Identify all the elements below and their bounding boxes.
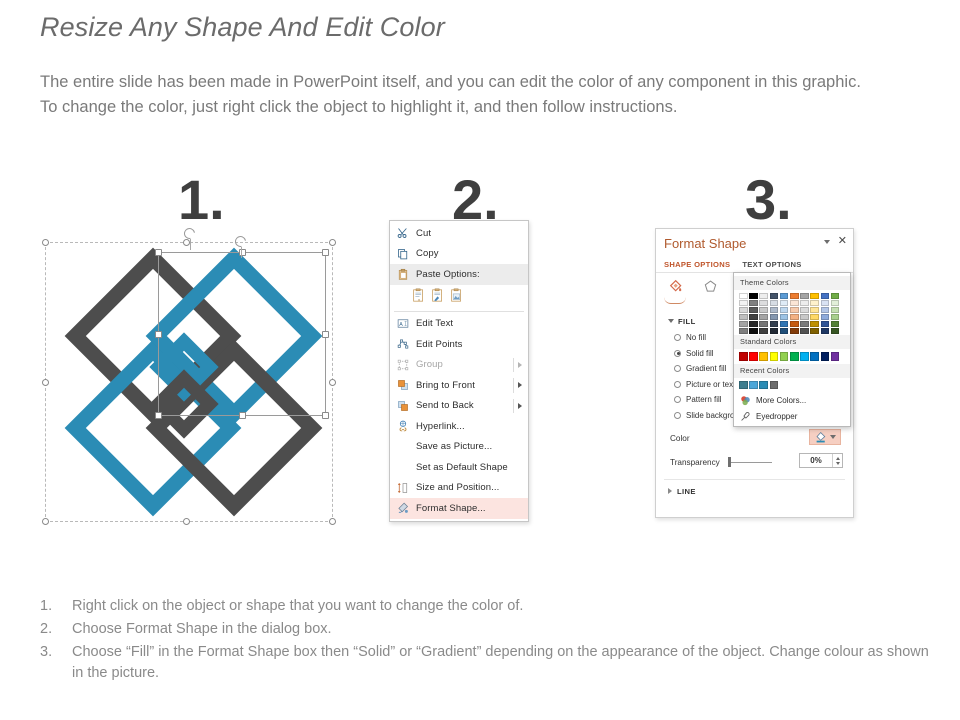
inner-handle-nw[interactable] <box>155 249 162 256</box>
theme-color-swatch[interactable] <box>739 314 748 320</box>
theme-color-swatch[interactable] <box>759 307 768 313</box>
inner-handle-sw[interactable] <box>155 412 162 419</box>
rotate-stem-left <box>190 239 191 250</box>
scissors-icon <box>394 226 412 241</box>
standard-colors-row[interactable] <box>734 349 850 364</box>
theme-color-swatch[interactable] <box>821 307 830 313</box>
standard-color-swatch[interactable] <box>821 352 830 361</box>
theme-color-swatch[interactable] <box>770 300 779 306</box>
fill-section-header[interactable]: FILL <box>668 317 696 326</box>
theme-color-swatch[interactable] <box>749 321 758 327</box>
theme-color-swatch[interactable] <box>790 300 799 306</box>
theme-color-swatch[interactable] <box>800 328 809 334</box>
theme-color-swatch[interactable] <box>831 321 840 327</box>
theme-color-swatch[interactable] <box>759 328 768 334</box>
menu-item-format-shape[interactable]: Format Shape... <box>390 498 528 519</box>
theme-color-swatch[interactable] <box>739 321 748 327</box>
svg-text:A: A <box>399 322 403 328</box>
color-label: Color <box>670 434 690 443</box>
radio-icon[interactable] <box>674 365 681 372</box>
inner-handle-e[interactable] <box>322 331 329 338</box>
paste-use-theme-icon[interactable] <box>431 288 444 306</box>
theme-color-swatch[interactable] <box>810 321 819 327</box>
radio-icon[interactable] <box>674 381 681 388</box>
theme-color-swatch[interactable] <box>790 293 799 299</box>
standard-color-swatch[interactable] <box>749 352 758 361</box>
theme-color-column[interactable] <box>831 293 840 334</box>
menu-item-label: Group <box>412 359 518 370</box>
theme-color-swatch[interactable] <box>790 314 799 320</box>
selection-handle-e[interactable] <box>329 379 336 386</box>
section-divider <box>664 479 845 480</box>
theme-color-column[interactable] <box>800 293 809 334</box>
step-number-1: 1. <box>178 172 225 228</box>
theme-color-column[interactable] <box>770 293 779 334</box>
fill-option-label: Gradient fill <box>686 364 726 373</box>
menu-item-hyperlink[interactable]: Hyperlink... <box>390 416 528 437</box>
slider-track <box>730 462 772 463</box>
transparency-spinner[interactable]: 0% <box>799 453 843 468</box>
fill-option-label: No fill <box>686 333 706 342</box>
edit-points-icon <box>394 337 412 352</box>
eyedropper-item[interactable]: Eyedropper <box>734 408 850 424</box>
selection-outline-inner[interactable] <box>158 252 326 416</box>
menu-item-send-to-back[interactable]: Send to Back <box>390 396 528 417</box>
pane-header-buttons[interactable]: ✕ <box>824 237 847 246</box>
paste-keep-source-icon[interactable]: a <box>412 288 425 306</box>
standard-color-swatch[interactable] <box>810 352 819 361</box>
theme-color-swatch[interactable] <box>800 307 809 313</box>
selection-handle-n[interactable] <box>183 239 190 246</box>
selection-handle-se[interactable] <box>329 518 336 525</box>
recent-colors-row[interactable] <box>734 378 850 393</box>
group-icon <box>394 357 412 372</box>
menu-item-label: Set as Default Shape <box>412 462 522 473</box>
shape-illustration-panel <box>45 238 337 526</box>
format-shape-title: Format Shape <box>664 236 746 251</box>
inner-handle-w[interactable] <box>155 331 162 338</box>
theme-color-swatch[interactable] <box>790 321 799 327</box>
recent-color-swatch[interactable] <box>759 381 768 390</box>
selection-handle-sw[interactable] <box>42 518 49 525</box>
menu-item-edit-text[interactable]: A Edit Text <box>390 314 528 335</box>
menu-item-size-and-position[interactable]: Size and Position... <box>390 478 528 499</box>
spinner-down-icon[interactable] <box>836 462 840 465</box>
clipboard-icon <box>394 267 412 282</box>
menu-item-set-default-shape[interactable]: Set as Default Shape <box>390 457 528 478</box>
instruction-number: 2. <box>40 619 72 640</box>
menu-item-label: Cut <box>412 228 522 239</box>
theme-color-swatch[interactable] <box>739 300 748 306</box>
selection-handle-s[interactable] <box>183 518 190 525</box>
theme-color-swatch[interactable] <box>780 293 789 299</box>
instruction-item: 3. Choose “Fill” in the Format Shape box… <box>40 642 930 684</box>
theme-color-column[interactable] <box>790 293 799 334</box>
spinner-arrows[interactable] <box>832 454 842 467</box>
submenu-divider <box>513 399 514 414</box>
page-subtitle: The entire slide has been made in PowerP… <box>40 70 870 120</box>
triangle-down-icon <box>668 319 674 323</box>
chevron-right-icon <box>518 403 522 409</box>
radio-icon-selected[interactable] <box>674 350 681 357</box>
size-position-icon <box>394 480 412 495</box>
theme-color-swatch[interactable] <box>780 300 789 306</box>
format-shape-icon <box>394 501 412 516</box>
theme-color-swatch[interactable] <box>739 293 748 299</box>
step-number-3: 3. <box>745 172 792 228</box>
theme-color-swatch[interactable] <box>831 307 840 313</box>
theme-color-swatch[interactable] <box>749 300 758 306</box>
theme-color-swatch[interactable] <box>770 321 779 327</box>
menu-item-label: Save as Picture... <box>412 441 522 452</box>
eyedropper-label: Eyedropper <box>756 412 797 421</box>
no-icon <box>394 439 412 454</box>
submenu-divider <box>513 378 514 393</box>
menu-item-label: Hyperlink... <box>412 421 522 432</box>
instruction-text: Choose Format Shape in the dialog box. <box>72 619 930 640</box>
no-icon <box>394 460 412 475</box>
theme-color-swatch[interactable] <box>821 300 830 306</box>
standard-color-swatch[interactable] <box>800 352 809 361</box>
edit-text-icon: A <box>394 316 412 331</box>
copy-icon <box>394 246 412 261</box>
recent-color-swatch[interactable] <box>770 381 779 390</box>
theme-color-swatch[interactable] <box>821 314 830 320</box>
theme-color-column[interactable] <box>821 293 830 334</box>
hyperlink-icon <box>394 419 412 434</box>
chevron-down-icon[interactable] <box>830 435 836 439</box>
theme-color-swatch[interactable] <box>780 328 789 334</box>
theme-color-swatch[interactable] <box>831 314 840 320</box>
theme-color-swatch[interactable] <box>810 307 819 313</box>
theme-color-swatch[interactable] <box>739 307 748 313</box>
menu-item-label: Edit Points <box>412 339 522 350</box>
standard-color-swatch[interactable] <box>759 352 768 361</box>
theme-color-swatch[interactable] <box>800 321 809 327</box>
fill-option-label: Pattern fill <box>686 395 722 404</box>
effects-pentagon-icon[interactable] <box>700 277 720 295</box>
theme-color-swatch[interactable] <box>739 328 748 334</box>
theme-color-swatch[interactable] <box>821 321 830 327</box>
menu-item-bring-to-front[interactable]: Bring to Front <box>390 375 528 396</box>
selection-handle-ne[interactable] <box>329 239 336 246</box>
instruction-item: 2. Choose Format Shape in the dialog box… <box>40 619 930 640</box>
theme-color-column[interactable] <box>759 293 768 334</box>
context-menu[interactable]: Cut Copy Paste Options: a <box>389 220 529 522</box>
theme-color-swatch[interactable] <box>749 293 758 299</box>
transparency-value: 0% <box>800 456 832 465</box>
line-section-label: LINE <box>677 487 696 496</box>
more-colors-icon <box>740 395 751 406</box>
spinner-up-icon[interactable] <box>836 457 840 460</box>
theme-color-swatch[interactable] <box>749 307 758 313</box>
standard-color-swatch[interactable] <box>790 352 799 361</box>
bring-front-icon <box>394 378 412 393</box>
theme-color-swatch[interactable] <box>831 328 840 334</box>
theme-color-swatch[interactable] <box>800 293 809 299</box>
fill-option-label: Solid fill <box>686 349 714 358</box>
page-title: Resize Any Shape And Edit Color <box>40 12 445 43</box>
tab-text-options[interactable]: TEXT OPTIONS <box>742 260 801 269</box>
selection-handle-nw[interactable] <box>42 239 49 246</box>
instruction-text: Choose “Fill” in the Format Shape box th… <box>72 642 930 684</box>
transparency-slider[interactable] <box>726 457 772 467</box>
theme-color-swatch[interactable] <box>770 293 779 299</box>
line-section-header[interactable]: LINE <box>668 487 696 496</box>
submenu-divider <box>513 358 514 373</box>
fill-color-button[interactable] <box>809 429 841 445</box>
radio-icon[interactable] <box>674 334 681 341</box>
theme-color-swatch[interactable] <box>831 300 840 306</box>
transparency-label: Transparency <box>670 458 720 467</box>
instruction-text: Right click on the object or shape that … <box>72 596 930 617</box>
radio-icon[interactable] <box>674 396 681 403</box>
fill-bucket-icon[interactable] <box>666 277 686 295</box>
theme-color-column[interactable] <box>749 293 758 334</box>
paste-picture-icon[interactable] <box>450 288 463 306</box>
theme-color-swatch[interactable] <box>810 314 819 320</box>
recent-color-swatch[interactable] <box>749 381 758 390</box>
more-colors-item[interactable]: More Colors... <box>734 392 850 408</box>
menu-item-save-as-picture[interactable]: Save as Picture... <box>390 437 528 458</box>
theme-color-swatch[interactable] <box>780 321 789 327</box>
theme-color-swatch[interactable] <box>800 300 809 306</box>
close-icon[interactable]: ✕ <box>838 237 847 246</box>
theme-color-column[interactable] <box>780 293 789 334</box>
format-pane-tabs[interactable]: SHAPE OPTIONS TEXT OPTIONS <box>664 260 802 269</box>
paste-options-icon-row[interactable]: a <box>390 285 528 309</box>
menu-item-label: Format Shape... <box>412 503 522 514</box>
menu-item-edit-points[interactable]: Edit Points <box>390 334 528 355</box>
chevron-down-icon[interactable] <box>824 240 830 244</box>
active-icon-underline <box>664 297 686 304</box>
recent-color-swatch[interactable] <box>739 381 748 390</box>
triangle-right-icon <box>668 488 672 494</box>
selection-handle-w[interactable] <box>42 379 49 386</box>
more-colors-label: More Colors... <box>756 396 806 405</box>
instruction-list: 1. Right click on the object or shape th… <box>40 596 930 686</box>
instruction-item: 1. Right click on the object or shape th… <box>40 596 930 617</box>
standard-color-swatch[interactable] <box>780 352 789 361</box>
instruction-number: 3. <box>40 642 72 684</box>
theme-color-swatch[interactable] <box>770 314 779 320</box>
slide-canvas: Resize Any Shape And Edit Color The enti… <box>0 0 960 720</box>
menu-item-label: Copy <box>412 248 522 259</box>
theme-color-swatch[interactable] <box>780 307 789 313</box>
menu-item-label: Send to Back <box>412 400 518 411</box>
theme-color-swatch[interactable] <box>759 293 768 299</box>
theme-color-swatch[interactable] <box>770 328 779 334</box>
theme-color-swatch[interactable] <box>759 321 768 327</box>
theme-color-swatch[interactable] <box>821 328 830 334</box>
fill-section-label: FILL <box>678 317 696 326</box>
menu-item-paste-options[interactable]: Paste Options: <box>390 264 528 285</box>
fill-color-icon <box>815 431 828 443</box>
standard-color-swatch[interactable] <box>739 352 748 361</box>
menu-item-copy[interactable]: Copy <box>390 244 528 265</box>
theme-color-swatch[interactable] <box>810 293 819 299</box>
theme-color-column[interactable] <box>739 293 748 334</box>
theme-color-swatch[interactable] <box>749 328 758 334</box>
recent-colors-header: Recent Colors <box>734 364 850 378</box>
theme-color-swatch[interactable] <box>810 300 819 306</box>
theme-color-swatch[interactable] <box>759 300 768 306</box>
theme-color-swatch[interactable] <box>831 293 840 299</box>
color-picker-dropdown[interactable]: Theme Colors Standard Colors Recent Colo… <box>733 272 851 427</box>
instruction-number: 1. <box>40 596 72 617</box>
theme-colors-grid[interactable] <box>734 290 850 335</box>
theme-color-swatch[interactable] <box>800 314 809 320</box>
menu-item-label: Bring to Front <box>412 380 518 391</box>
menu-item-cut[interactable]: Cut <box>390 223 528 244</box>
theme-color-swatch[interactable] <box>790 328 799 334</box>
send-back-icon <box>394 398 412 413</box>
rotate-stem-right <box>241 247 242 258</box>
inner-handle-ne[interactable] <box>322 249 329 256</box>
radio-icon[interactable] <box>674 412 681 419</box>
theme-color-swatch[interactable] <box>821 293 830 299</box>
chevron-right-icon <box>518 362 522 368</box>
slider-thumb[interactable] <box>728 457 731 467</box>
theme-color-swatch[interactable] <box>780 314 789 320</box>
theme-color-swatch[interactable] <box>790 307 799 313</box>
menu-item-group: Group <box>390 355 528 376</box>
eyedropper-icon <box>740 411 751 422</box>
theme-color-column[interactable] <box>810 293 819 334</box>
menu-separator <box>394 311 524 312</box>
theme-color-swatch[interactable] <box>810 328 819 334</box>
theme-color-swatch[interactable] <box>770 307 779 313</box>
theme-colors-header: Theme Colors <box>734 276 850 290</box>
menu-item-label: Paste Options: <box>412 269 522 280</box>
standard-color-swatch[interactable] <box>831 352 840 361</box>
standard-color-swatch[interactable] <box>770 352 779 361</box>
inner-handle-s[interactable] <box>239 412 246 419</box>
chevron-right-icon <box>518 382 522 388</box>
standard-colors-header: Standard Colors <box>734 335 850 349</box>
inner-handle-se[interactable] <box>322 412 329 419</box>
tab-shape-options[interactable]: SHAPE OPTIONS <box>664 260 730 269</box>
theme-color-swatch[interactable] <box>759 314 768 320</box>
theme-color-swatch[interactable] <box>749 314 758 320</box>
menu-item-label: Edit Text <box>412 318 522 329</box>
menu-item-label: Size and Position... <box>412 482 522 493</box>
